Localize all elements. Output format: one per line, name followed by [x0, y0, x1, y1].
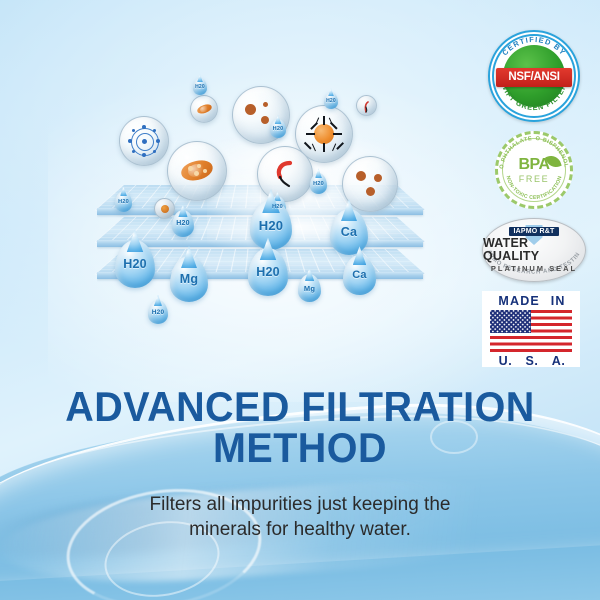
bacteria-icon	[196, 103, 213, 115]
platinum-seal-label: PLATINUM SEAL	[491, 264, 577, 273]
droplet-h2o-xs: H20	[115, 191, 132, 212]
filtration-illustration: H20 H20 H20 H20 H20 H20 H20 H20 Ca H20	[95, 78, 425, 348]
rust-particle-sphere	[154, 198, 175, 219]
droplet-label: H20	[272, 204, 283, 210]
subtitle-line-2: minerals for healthy water.	[189, 519, 411, 540]
droplet-label: H20	[259, 218, 283, 233]
droplet-label: H20	[152, 309, 165, 316]
droplet-label: H20	[273, 126, 284, 132]
headline-line-1: ADVANCED FILTRATION	[65, 383, 534, 430]
droplet-h2o-xs: H20	[270, 119, 286, 138]
a-label: A.	[552, 354, 566, 368]
usa-row: U. S. A.	[482, 353, 580, 368]
flag-canton	[490, 310, 531, 333]
rust-particle-icon	[161, 205, 169, 213]
badge-made-in-usa: MADE IN U. S. A.	[482, 291, 586, 367]
nsf-top-arc-label: CERTIFIED BY	[500, 35, 568, 57]
droplet-label: H20	[326, 98, 336, 104]
made-label: MADE	[498, 294, 540, 308]
iapmo-logo-label: IAPMO R&T	[509, 227, 558, 236]
parasite-icon	[270, 160, 300, 188]
droplet-label: Mg	[180, 272, 198, 286]
molecule-icon	[129, 126, 159, 156]
droplet-h2o-xs: H20	[310, 173, 327, 194]
droplet-label: H20	[123, 257, 147, 271]
water-quality-label: WATER QUALITY	[483, 237, 585, 263]
molecule-sphere	[119, 116, 169, 166]
bacteria-sphere-large	[167, 141, 227, 201]
headline-line-2: METHOD	[18, 427, 582, 468]
droplet-label: Mg	[304, 284, 315, 293]
page-subtitle: Filters all impurities just keeping the …	[0, 492, 600, 542]
u-label: U.	[499, 354, 513, 368]
droplet-h2o-xs: H20	[193, 78, 207, 95]
badge-bpa-free: NO PHTHALATES NO BISPHENOL A NON-TOXIC C…	[482, 131, 586, 209]
droplet-label: H20	[313, 181, 324, 187]
droplet-label: H20	[256, 265, 280, 279]
badge-water-quality: IAPMO R&T WATER QUALITY PLATINUM SEAL IA…	[482, 218, 586, 282]
micro-particle-sphere	[356, 95, 377, 116]
page-title: ADVANCED FILTRATION METHOD	[18, 386, 582, 468]
droplet-label: H20	[118, 199, 129, 205]
usa-flag-icon	[490, 310, 572, 352]
s-label: S.	[525, 354, 538, 368]
in-label: IN	[551, 294, 566, 308]
cyst-icon	[353, 169, 387, 199]
droplet-label: H20	[176, 220, 189, 227]
promo-banner: H20 H20 H20 H20 H20 H20 H20 H20 Ca H20	[0, 0, 600, 600]
virus-icon	[306, 116, 342, 152]
droplet-h2o-xs: H20	[324, 92, 338, 109]
svg-text:CERTIFIED BY: CERTIFIED BY	[500, 35, 568, 57]
nsf-center-label: NSF/ANSI	[496, 68, 572, 87]
bpa-center: BPA FREE	[511, 147, 557, 193]
bacteria-sphere-small	[190, 95, 218, 123]
parasite-sphere	[257, 146, 313, 202]
badge-nsf-ansi: CERTIFIED BY SWIFT GREEN FILTERS NSF/ANS…	[482, 30, 586, 122]
subtitle-line-1: Filters all impurities just keeping the	[150, 494, 451, 515]
droplet-label: H20	[195, 84, 205, 90]
droplet-mg-sm: Mg	[298, 274, 321, 302]
droplet-label: Ca	[341, 225, 357, 239]
droplet-label: Ca	[352, 269, 366, 281]
certification-badges: CERTIFIED BY SWIFT GREEN FILTERS NSF/ANS…	[482, 30, 586, 376]
micro-particle-icon	[362, 100, 371, 112]
bpa-sub-label: FREE	[519, 174, 549, 184]
bacteria-icon	[179, 158, 215, 184]
made-in-row: MADE IN	[482, 293, 580, 309]
droplet-h2o-xs: H20	[148, 300, 168, 324]
droplet-h2o-sm: H20	[172, 210, 194, 237]
